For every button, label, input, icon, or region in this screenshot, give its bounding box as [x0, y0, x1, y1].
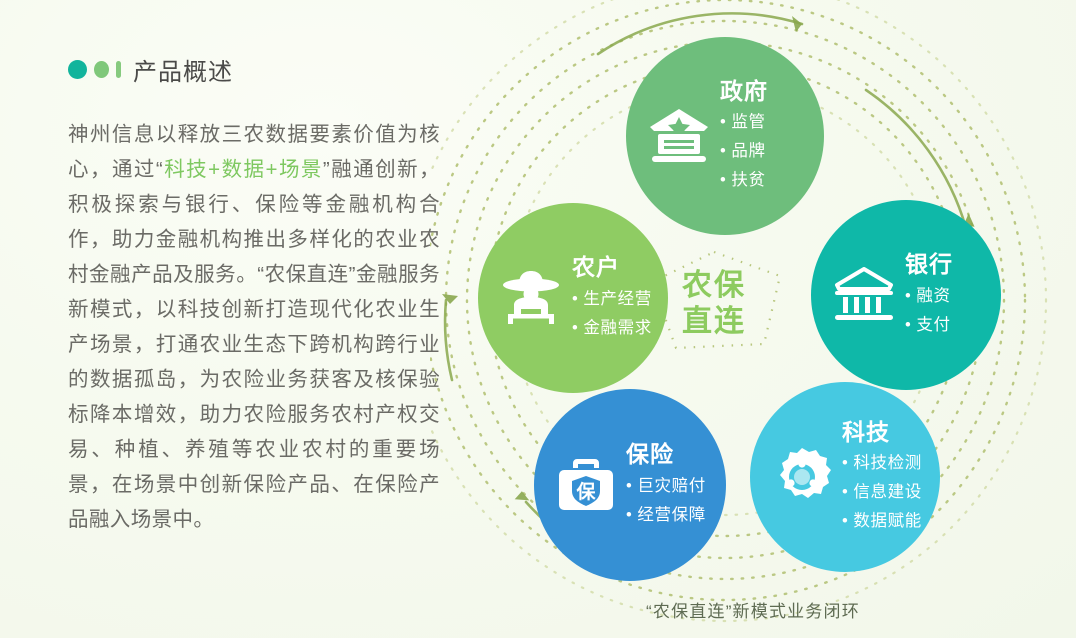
- arrow-path-insurance-to-farmer: [445, 300, 452, 380]
- list-item: 数据赋能: [842, 507, 922, 536]
- list-item: 支付: [905, 311, 953, 340]
- list-item: 扶贫: [720, 166, 768, 195]
- arrowhead-5: [442, 294, 458, 304]
- bar-green-icon: [116, 61, 121, 78]
- list-item: 信息建设: [842, 478, 922, 507]
- node-items-bank: 融资 支付: [905, 282, 953, 340]
- node-items-farmer: 生产经营 金融需求: [572, 285, 652, 343]
- farmer-hat-icon: [500, 269, 562, 327]
- government-building-icon: [648, 107, 710, 165]
- diagram-caption: “农保直连”新模式业务闭环: [430, 597, 1076, 622]
- page-title: 产品概述: [133, 52, 233, 87]
- center-label: 农保 直连: [652, 268, 776, 340]
- node-title-bank: 银行: [905, 250, 953, 279]
- node-farmer[interactable]: 农户 生产经营 金融需求: [478, 203, 668, 393]
- paragraph-highlight: 科技+数据+场景: [163, 158, 323, 181]
- arrowhead-1: [792, 16, 802, 32]
- node-title-insurance: 保险: [626, 440, 706, 469]
- overview-paragraph: 神州信息以释放三农数据要素价值为核心，通过“科技+数据+场景”融通创新，积极探索…: [68, 117, 440, 537]
- node-technology[interactable]: 科技 科技检测 信息建设 数据赋能: [750, 382, 940, 572]
- node-title-technology: 科技: [842, 418, 922, 447]
- dot-large-teal-icon: [68, 60, 87, 79]
- node-insurance[interactable]: 保 保险 巨灾赔付 经营保障: [534, 389, 726, 581]
- node-title-government: 政府: [720, 77, 768, 106]
- list-item: 巨灾赔付: [626, 472, 706, 501]
- center-label-line1: 农保: [652, 268, 776, 304]
- center-label-line2: 直连: [652, 304, 776, 340]
- node-items-insurance: 巨灾赔付 经营保障: [626, 472, 706, 530]
- list-item: 品牌: [720, 137, 768, 166]
- node-bank[interactable]: 银行 融资 支付: [811, 200, 1001, 390]
- insurance-briefcase-shield-icon: 保: [556, 456, 616, 514]
- insurance-glyph: 保: [575, 480, 596, 503]
- paragraph-part-2: ”融通创新，积极探索与银行、保险等金融机构合作，助力金融机构推出多样化的农业农村…: [68, 158, 440, 531]
- list-item: 生产经营: [572, 285, 652, 314]
- product-overview-panel: 产品概述 神州信息以释放三农数据要素价值为核心，通过“科技+数据+场景”融通创新…: [68, 52, 440, 537]
- list-item: 经营保障: [626, 501, 706, 530]
- node-government[interactable]: 政府 监管 品牌 扶贫: [626, 37, 824, 235]
- list-item: 科技检测: [842, 449, 922, 478]
- list-item: 融资: [905, 282, 953, 311]
- business-loop-diagram: 政府 监管 品牌 扶贫 银行: [430, 0, 1076, 638]
- node-items-government: 监管 品牌 扶贫: [720, 108, 768, 195]
- list-item: 监管: [720, 108, 768, 137]
- gear-icon: [772, 447, 832, 507]
- bank-columns-icon: [833, 267, 895, 323]
- dot-medium-green-icon: [94, 61, 109, 78]
- node-items-technology: 科技检测 信息建设 数据赋能: [842, 449, 922, 536]
- node-title-farmer: 农户: [572, 253, 652, 282]
- list-item: 金融需求: [572, 314, 652, 343]
- section-heading: 产品概述: [68, 52, 440, 87]
